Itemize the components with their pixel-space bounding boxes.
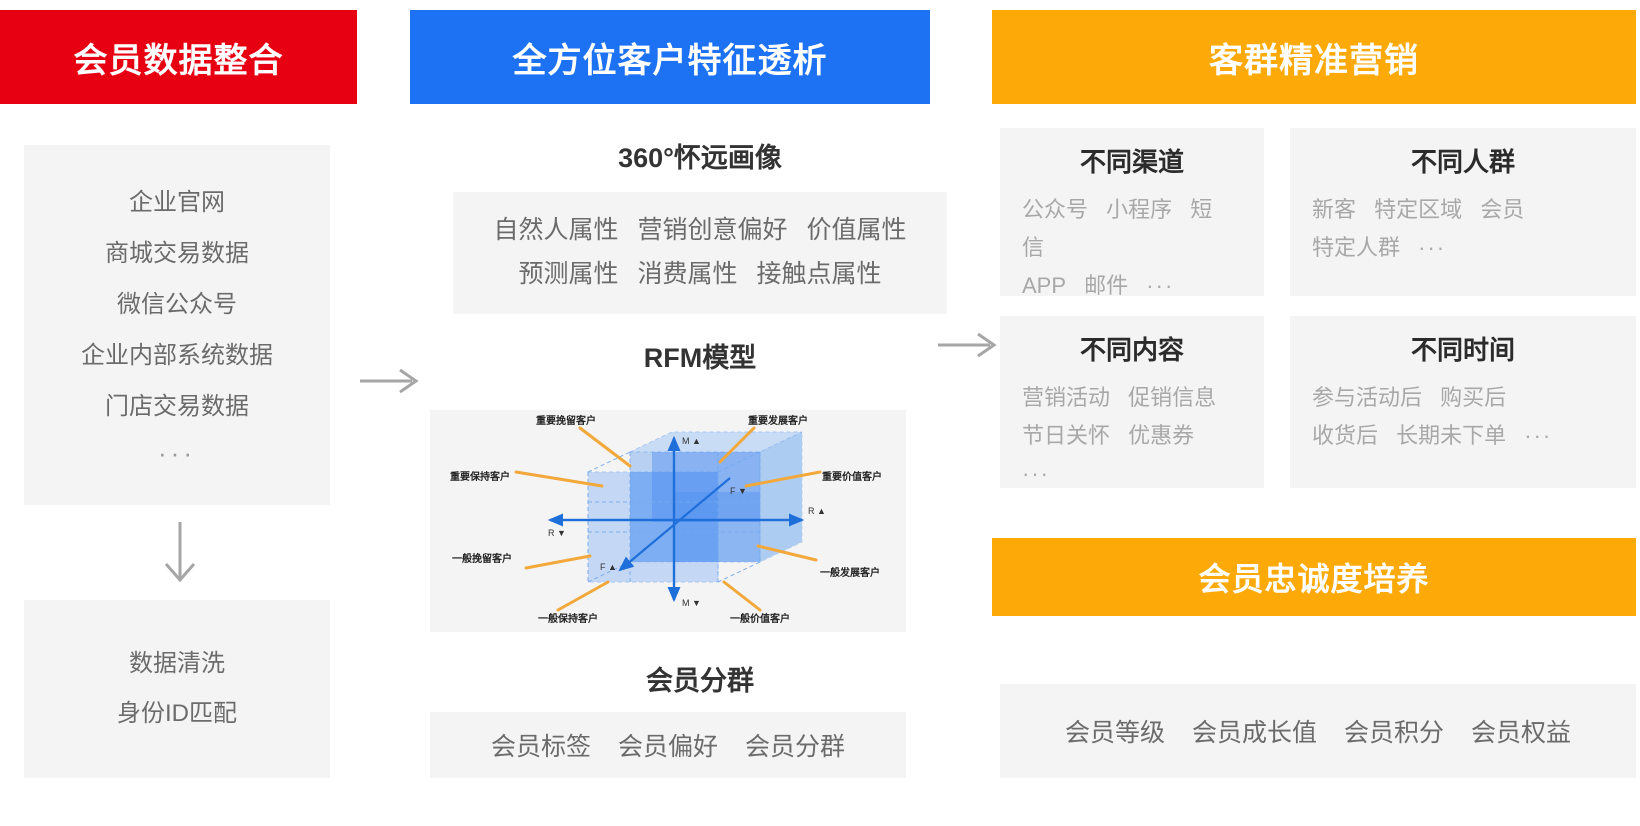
data-cleaning-item: 身份ID匹配 bbox=[117, 689, 237, 739]
card-tag: 公众号 bbox=[1022, 197, 1088, 222]
rfm-segment-label: 重要发展客户 bbox=[748, 414, 808, 427]
rfm-segment-label: 一般挽留客户 bbox=[452, 552, 512, 565]
rfm-segment-label: 重要挽留客户 bbox=[536, 414, 596, 427]
card-tag: 新客 bbox=[1312, 197, 1356, 222]
data-sources-panel: 企业官网 商城交易数据 微信公众号 企业内部系统数据 门店交易数据 ··· bbox=[24, 145, 330, 505]
section-title-portrait: 360°怀远画像 bbox=[453, 136, 947, 175]
axis-label-m-up: M ▲ bbox=[682, 436, 701, 446]
arrow-right-icon bbox=[936, 330, 998, 360]
section-title-segmentation: 会员分群 bbox=[453, 659, 947, 698]
card-tag: 节日关怀 bbox=[1022, 423, 1110, 448]
card-tag-row: 特定人群 ··· bbox=[1312, 229, 1614, 267]
card-tag-row: APP 邮件 ··· bbox=[1022, 267, 1242, 305]
card-tag-row: 参与活动后 购买后 bbox=[1312, 379, 1614, 417]
card-title: 不同时间 bbox=[1312, 330, 1614, 367]
loyalty-tag: 会员等级 bbox=[1065, 719, 1165, 747]
loyalty-tag: 会员积分 bbox=[1344, 719, 1444, 747]
marketing-card-channel: 不同渠道 公众号 小程序 短信 APP 邮件 ··· bbox=[1000, 128, 1264, 296]
arrow-right-icon bbox=[358, 366, 420, 396]
data-source-item: 商城交易数据 bbox=[105, 231, 249, 278]
card-tag: 优惠券 bbox=[1128, 423, 1194, 448]
loyalty-tag: 会员成长值 bbox=[1192, 719, 1317, 747]
banner-member-loyalty: 会员忠诚度培养 bbox=[992, 538, 1636, 616]
card-tag-ellipsis: ··· bbox=[1418, 235, 1446, 260]
data-source-ellipsis: ··· bbox=[158, 434, 196, 469]
segmentation-tag: 会员分群 bbox=[745, 733, 845, 761]
rfm-segment-label: 重要保持客户 bbox=[450, 470, 510, 483]
rfm-segment-label: 重要价值客户 bbox=[822, 470, 882, 483]
card-tag: 特定人群 bbox=[1312, 235, 1400, 260]
rfm-model-diagram: M ▲ M ▼ R ▲ R ▼ F ▼ F ▲ 重要挽留客户 bbox=[430, 410, 906, 632]
banner-customer-feature-insight: 全方位客户特征透析 bbox=[410, 10, 930, 104]
banner-label: 客群精准营销 bbox=[1209, 33, 1419, 82]
data-source-item: 企业内部系统数据 bbox=[81, 333, 273, 380]
card-tag-row: 公众号 小程序 短信 bbox=[1022, 191, 1242, 267]
card-tag: 长期未下单 bbox=[1396, 423, 1506, 448]
attribute-tag: 接触点属性 bbox=[756, 260, 881, 288]
arrow-down-icon bbox=[150, 520, 210, 590]
data-cleaning-item: 数据清洗 bbox=[129, 639, 225, 689]
loyalty-tags-panel: 会员等级 会员成长值 会员积分 会员权益 bbox=[1000, 684, 1636, 778]
marketing-card-timing: 不同时间 参与活动后 购买后 收货后 长期未下单 ··· bbox=[1290, 316, 1636, 488]
card-tag: 促销信息 bbox=[1128, 385, 1216, 410]
section-title-rfm: RFM模型 bbox=[453, 336, 947, 375]
diagram-canvas: 会员数据整合 企业官网 商城交易数据 微信公众号 企业内部系统数据 门店交易数据… bbox=[0, 0, 1640, 826]
banner-label: 全方位客户特征透析 bbox=[513, 33, 828, 82]
card-tag: 购买后 bbox=[1440, 385, 1506, 410]
card-tag-row: 营销活动 促销信息 bbox=[1022, 379, 1242, 417]
card-tag-row: 收货后 长期未下单 ··· bbox=[1312, 417, 1614, 455]
card-tag: 参与活动后 bbox=[1312, 385, 1422, 410]
banner-precision-marketing: 客群精准营销 bbox=[992, 10, 1636, 104]
card-tag-row: 节日关怀 优惠券 ··· bbox=[1022, 417, 1242, 493]
card-tag: 营销活动 bbox=[1022, 385, 1110, 410]
card-tag: 小程序 bbox=[1106, 197, 1172, 222]
card-title: 不同人群 bbox=[1312, 142, 1614, 179]
axis-label-r-down: R ▼ bbox=[548, 528, 566, 538]
loyalty-row: 会员等级 会员成长值 会员积分 会员权益 bbox=[1055, 713, 1581, 749]
card-title: 不同渠道 bbox=[1022, 142, 1242, 179]
card-tag: 会员 bbox=[1480, 197, 1524, 222]
attribute-tag: 自然人属性 bbox=[494, 216, 619, 244]
segmentation-tag: 会员偏好 bbox=[618, 733, 718, 761]
axis-label-m-down: M ▼ bbox=[682, 598, 701, 608]
marketing-card-content: 不同内容 营销活动 促销信息 节日关怀 优惠券 ··· bbox=[1000, 316, 1264, 488]
data-source-item: 微信公众号 bbox=[117, 282, 237, 329]
axis-label-f-up: F ▲ bbox=[600, 562, 617, 572]
card-tag-ellipsis: ··· bbox=[1022, 461, 1050, 486]
data-cleaning-panel: 数据清洗 身份ID匹配 bbox=[24, 600, 330, 778]
axis-label-r-up: R ▲ bbox=[808, 506, 826, 516]
attribute-tag: 价值属性 bbox=[806, 216, 906, 244]
attribute-tag: 营销创意偏好 bbox=[637, 216, 787, 244]
card-tag: 特定区域 bbox=[1374, 197, 1462, 222]
card-tag-ellipsis: ··· bbox=[1524, 423, 1552, 448]
card-tag-row: 新客 特定区域 会员 bbox=[1312, 191, 1614, 229]
segmentation-tag: 会员标签 bbox=[491, 733, 591, 761]
banner-label: 会员忠诚度培养 bbox=[1198, 554, 1429, 600]
loyalty-tag: 会员权益 bbox=[1471, 719, 1571, 747]
attribute-row: 自然人属性 营销创意偏好 价值属性 bbox=[488, 209, 913, 253]
rfm-segment-label: 一般保持客户 bbox=[538, 612, 598, 625]
segmentation-row: 会员标签 会员偏好 会员分群 bbox=[481, 727, 855, 763]
segmentation-tags-panel: 会员标签 会员偏好 会员分群 bbox=[430, 712, 906, 778]
banner-label: 会员数据整合 bbox=[74, 33, 284, 82]
rfm-segment-label: 一般发展客户 bbox=[820, 566, 880, 579]
card-tag: 邮件 bbox=[1084, 273, 1128, 298]
data-source-item: 门店交易数据 bbox=[105, 384, 249, 431]
portrait-attributes-panel: 自然人属性 营销创意偏好 价值属性 预测属性 消费属性 接触点属性 bbox=[453, 192, 947, 314]
rfm-segment-label: 一般价值客户 bbox=[730, 612, 790, 625]
attribute-tag: 消费属性 bbox=[637, 260, 737, 288]
banner-member-data-integration: 会员数据整合 bbox=[0, 10, 357, 104]
attribute-tag: 预测属性 bbox=[519, 260, 619, 288]
attribute-row: 预测属性 消费属性 接触点属性 bbox=[513, 253, 888, 297]
card-tag: APP bbox=[1022, 273, 1066, 298]
card-title: 不同内容 bbox=[1022, 330, 1242, 367]
data-source-item: 企业官网 bbox=[129, 180, 225, 227]
card-tag: 收货后 bbox=[1312, 423, 1378, 448]
axis-label-f-down: F ▼ bbox=[730, 486, 747, 496]
card-tag-ellipsis: ··· bbox=[1146, 273, 1174, 298]
marketing-card-audience: 不同人群 新客 特定区域 会员 特定人群 ··· bbox=[1290, 128, 1636, 296]
rfm-cube-svg: M ▲ M ▼ R ▲ R ▼ F ▼ F ▲ 重要挽留客户 bbox=[430, 410, 906, 632]
